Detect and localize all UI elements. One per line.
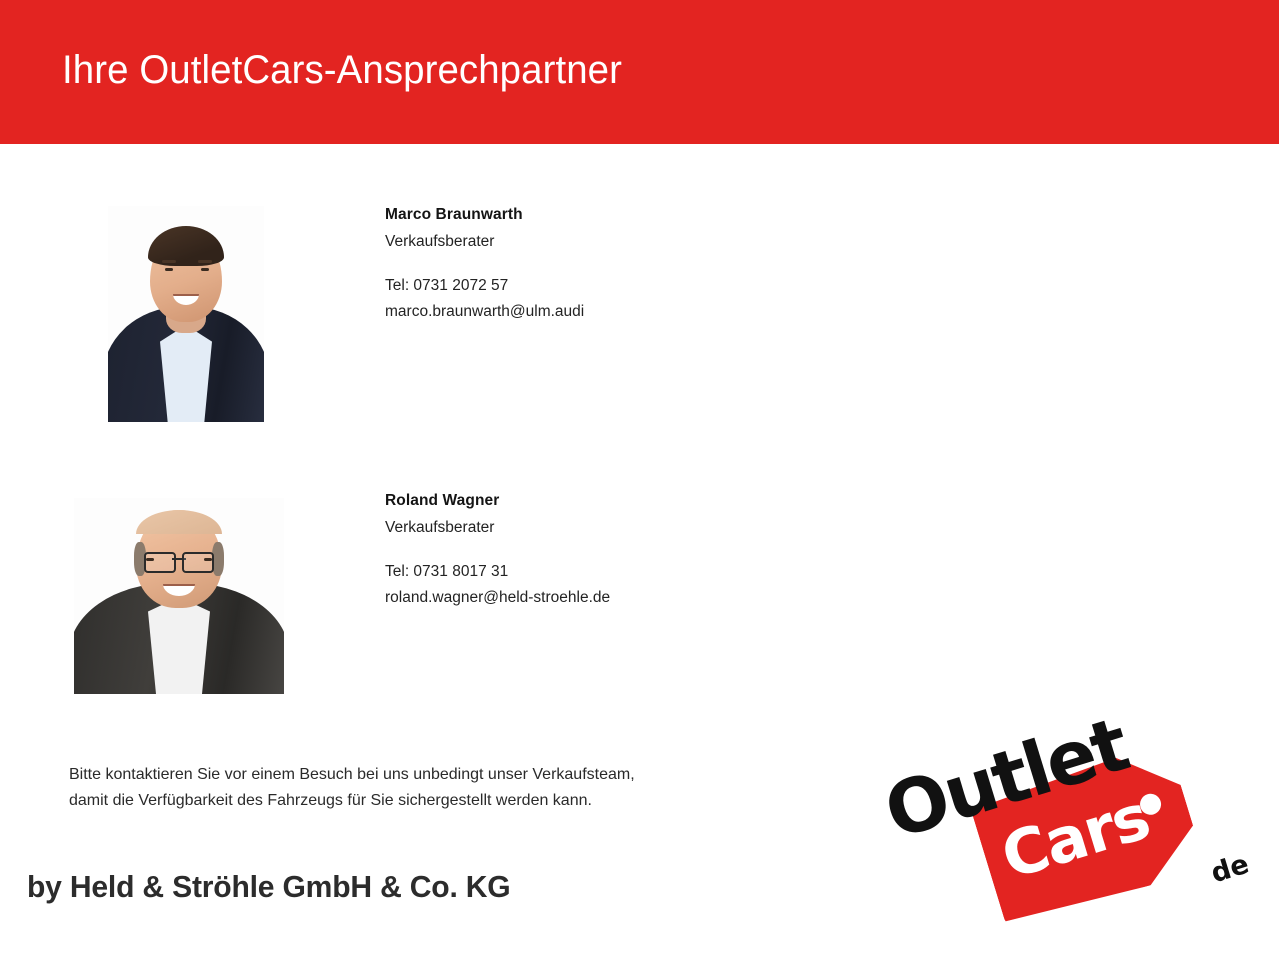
contact-details-1: Marco Braunwarth Verkaufsberater Tel: 07… bbox=[385, 206, 584, 321]
visit-note: Bitte kontaktieren Sie vor einem Besuch … bbox=[69, 762, 869, 814]
contact-name: Marco Braunwarth bbox=[385, 206, 584, 224]
avatar-wrapper-2 bbox=[74, 498, 284, 701]
avatar bbox=[108, 206, 264, 429]
contact-email[interactable]: roland.wagner@held-stroehle.de bbox=[385, 589, 610, 607]
contact-phone[interactable]: Tel: 0731 2072 57 bbox=[385, 277, 584, 295]
company-name: by Held & Ströhle GmbH & Co. KG bbox=[27, 869, 510, 905]
contact-role: Verkaufsberater bbox=[385, 233, 584, 251]
contact-role: Verkaufsberater bbox=[385, 519, 610, 537]
visit-note-line-1: Bitte kontaktieren Sie vor einem Besuch … bbox=[69, 762, 869, 788]
contact-phone[interactable]: Tel: 0731 8017 31 bbox=[385, 563, 610, 581]
logo-word-de: de bbox=[1207, 849, 1252, 890]
contact-name: Roland Wagner bbox=[385, 492, 610, 510]
contact-details-2: Roland Wagner Verkaufsberater Tel: 0731 … bbox=[385, 492, 610, 607]
visit-note-line-2: damit die Verfügbarkeit des Fahrzeugs fü… bbox=[69, 788, 869, 814]
header-banner: Ihre OutletCars-Ansprechpartner bbox=[0, 0, 1279, 144]
contact-email[interactable]: marco.braunwarth@ulm.audi bbox=[385, 303, 584, 321]
avatar bbox=[74, 498, 284, 701]
avatar-wrapper-1 bbox=[108, 206, 264, 429]
page-title: Ihre OutletCars-Ansprechpartner bbox=[62, 48, 622, 93]
outletcars-logo[interactable]: Outlet Cars de bbox=[880, 718, 1279, 960]
